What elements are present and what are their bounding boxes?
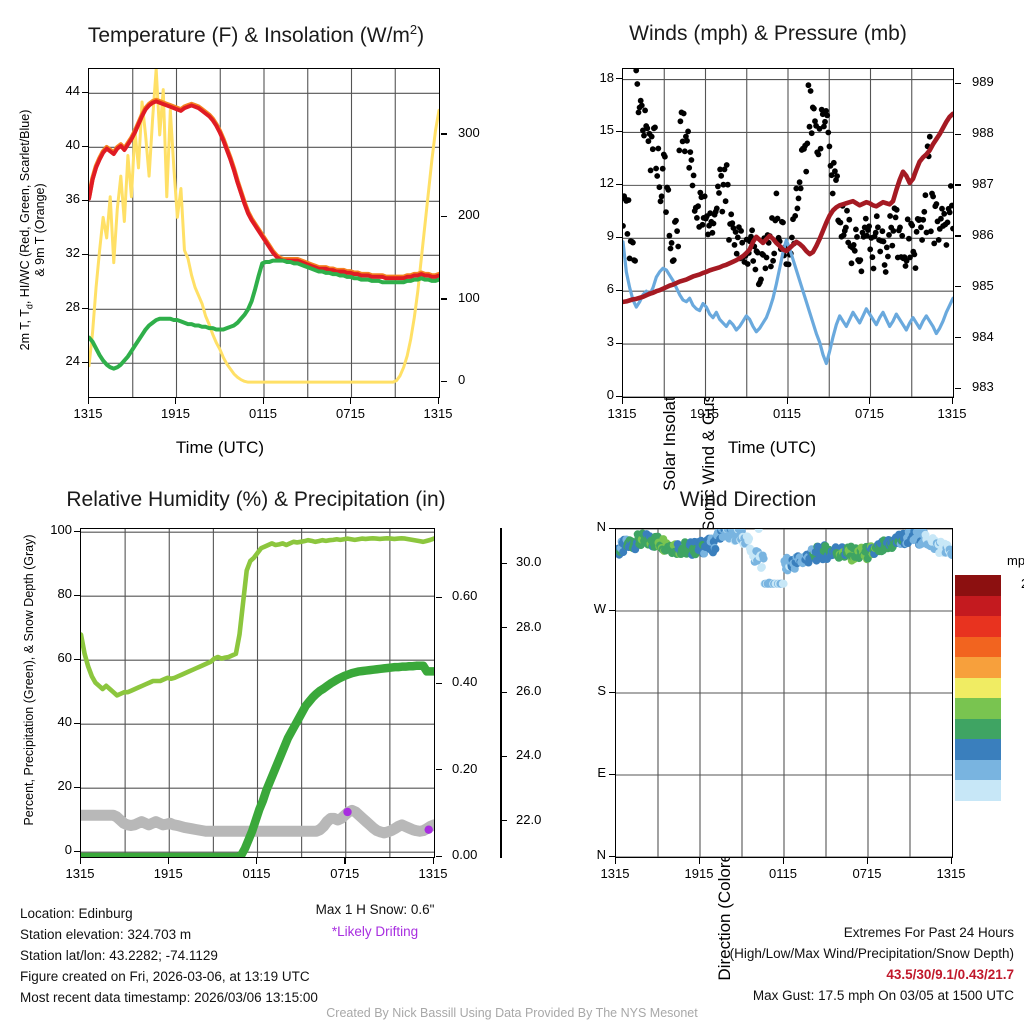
wind-speed-colorbar: mph20+181614121086420 (955, 575, 1001, 801)
xtick-label-time-chart2: 0715 (844, 406, 896, 421)
xtick-label-time-chart4: 1315 (925, 866, 977, 881)
colorbar-label: 0 (1007, 781, 1024, 796)
xtick-label-time-chart4: 1315 (589, 866, 641, 881)
ytick-label-temperature: 24 (48, 353, 80, 368)
colorbar-title: mph (1007, 553, 1024, 568)
ytick-label-insolation: 200 (458, 207, 480, 222)
ytick-label-temperature: 28 (48, 299, 80, 314)
footer-latlon: Station lat/lon: 43.2282; -74.1129 (20, 948, 218, 963)
chart-title-winds: Winds (mph) & Pressure (mb) (512, 22, 1024, 46)
ytick-label-precipitation: 0.40 (452, 674, 477, 689)
ytick-label-wind: 3 (582, 334, 614, 349)
chart-title-temperature: Temperature (F) & Insolation (W/m2) (0, 22, 512, 48)
ytick-label-pressure: 983 (972, 379, 994, 394)
ytick-label-humidity: 80 (40, 586, 72, 601)
ytick-temperature (82, 92, 88, 93)
ytick-humidity (74, 851, 80, 852)
ytick-label-humidity: 60 (40, 650, 72, 665)
xtick-chart3 (433, 858, 434, 864)
colorbar-swatches (955, 575, 1001, 801)
ytick-wind (616, 184, 622, 185)
xtick-chart1 (175, 398, 176, 404)
xtick-chart2 (869, 398, 870, 404)
ytick-temperature (82, 362, 88, 363)
ytick-label-wind: 6 (582, 281, 614, 296)
xtick-chart3 (344, 858, 345, 864)
ytick-pressure (955, 337, 961, 338)
ytick-label-pressure: 985 (972, 278, 994, 293)
xtick-label-time-chart1: 1915 (150, 406, 202, 421)
xtick-label-time-chart4: 1915 (673, 866, 725, 881)
xtick-chart2 (787, 398, 788, 404)
xtick-label-time-chart1: 1315 (412, 406, 464, 421)
xtick-label-time-chart1: 0715 (325, 406, 377, 421)
xtick-chart1 (438, 398, 439, 404)
xtick-label-time-chart3: 1915 (142, 866, 194, 881)
xtick-label-time-chart1: 1315 (62, 406, 114, 421)
ytick-label-pressure: 984 (972, 329, 994, 344)
ytick-label-pressure: 986 (972, 227, 994, 242)
xtick-chart4 (951, 858, 952, 864)
colorbar-label: 8 (1007, 699, 1024, 714)
ytick-label-humidity: 40 (40, 714, 72, 729)
ytick-label-temperature: 40 (48, 137, 80, 152)
xtick-chart4 (615, 858, 616, 864)
xtick-label-time-chart3: 0115 (231, 866, 283, 881)
xtick-label-time-chart1: 0115 (237, 406, 289, 421)
ytick-label-direction: W (578, 601, 606, 616)
ytick-direction (609, 692, 615, 693)
chart-winds-pressure: Winds (mph) & Pressure (mb) Sonic Wind &… (512, 0, 1024, 470)
axis-label-time-chart2: Time (UTC) (572, 438, 972, 458)
footer-drifting-note: *Likely Drifting (230, 924, 520, 939)
ytick-label-insolation: 0 (458, 372, 465, 387)
ytick-snow-depth (501, 627, 507, 628)
ytick-label-humidity: 0 (40, 842, 72, 857)
ytick-insolation (441, 216, 447, 217)
ytick-humidity (74, 659, 80, 660)
chart-title-temperature-text: Temperature (F) & Insolation (W/m (88, 24, 410, 47)
ytick-temperature (82, 146, 88, 147)
colorbar-label: 10 (1007, 679, 1024, 694)
chart-title-humidity: Relative Humidity (%) & Precipitation (i… (0, 488, 512, 512)
ytick-snow-depth (501, 563, 507, 564)
footer-created: Figure created on Fri, 2026-03-06, at 13… (20, 969, 310, 984)
colorbar-swatch (955, 596, 1001, 617)
ytick-label-direction: N (578, 847, 606, 862)
xtick-chart4 (783, 858, 784, 864)
ytick-label-wind: 12 (582, 175, 614, 190)
plot-area-wind-direction (615, 528, 953, 858)
ytick-direction (609, 528, 615, 529)
axis-label-temp-part1: 2m T, T (18, 309, 32, 350)
ytick-pressure (955, 83, 961, 84)
colorbar-swatch (955, 719, 1001, 740)
colorbar-swatch (955, 760, 1001, 781)
xtick-label-time-chart3: 1315 (407, 866, 459, 881)
xtick-label-time-chart3: 1315 (54, 866, 106, 881)
xtick-label-time-chart2: 1915 (679, 406, 731, 421)
colorbar-swatch (955, 616, 1001, 637)
ytick-insolation (441, 298, 447, 299)
xtick-chart4 (867, 858, 868, 864)
ytick-insolation (441, 381, 447, 382)
xtick-label-time-chart3: 0715 (319, 866, 371, 881)
ytick-temperature (82, 308, 88, 309)
ytick-precipitation (436, 683, 442, 684)
colorbar-label: 14 (1007, 638, 1024, 653)
footer-extremes-subtitle: (High/Low/Max Wind/Precipitation/Snow De… (584, 946, 1014, 961)
ytick-label-wind: 15 (582, 122, 614, 137)
plot-area-humidity (80, 528, 435, 858)
ytick-label-wind: 0 (582, 387, 614, 402)
ytick-direction (609, 610, 615, 611)
colorbar-label: 12 (1007, 658, 1024, 673)
ytick-direction (609, 774, 615, 775)
xtick-chart1 (263, 398, 264, 404)
ytick-label-temperature: 44 (48, 83, 80, 98)
axis-label-time-chart1: Time (UTC) (0, 438, 440, 458)
xtick-label-time-chart2: 1315 (926, 406, 978, 421)
axis-label-humidity-left: Percent, Precipitation (Green), & Snow D… (22, 505, 36, 855)
ytick-label-insolation: 100 (458, 290, 480, 305)
colorbar-label: 4 (1007, 740, 1024, 755)
ytick-label-precipitation: 0.20 (452, 761, 477, 776)
ytick-temperature (82, 254, 88, 255)
footer-max-gust: Max Gust: 17.5 mph On 03/05 at 1500 UTC (584, 988, 1014, 1003)
xtick-label-time-chart2: 0115 (761, 406, 813, 421)
xtick-chart3 (168, 858, 169, 864)
ytick-humidity (74, 531, 80, 532)
ytick-label-insolation: 300 (458, 125, 480, 140)
colorbar-swatch (955, 637, 1001, 658)
footer-location: Location: Edinburg (20, 906, 133, 921)
xtick-label-time-chart2: 1315 (596, 406, 648, 421)
footer-timestamp: Most recent data timestamp: 2026/03/06 1… (20, 990, 318, 1005)
xtick-chart2 (952, 398, 953, 404)
footer-elevation: Station elevation: 324.703 m (20, 927, 191, 942)
ytick-humidity (74, 787, 80, 788)
figure-credit: Created By Nick Bassill Using Data Provi… (0, 1006, 1024, 1020)
ytick-snow-depth (501, 756, 507, 757)
ytick-snow-depth (501, 692, 507, 693)
ytick-wind (616, 78, 622, 79)
xtick-label-time-chart4: 0715 (841, 866, 893, 881)
ytick-label-humidity: 100 (40, 522, 72, 537)
ytick-wind (616, 396, 622, 397)
ytick-snow-depth (501, 820, 507, 821)
ytick-label-wind: 18 (582, 70, 614, 85)
ytick-label-temperature: 32 (48, 245, 80, 260)
ytick-label-pressure: 987 (972, 176, 994, 191)
colorbar-swatch (955, 739, 1001, 760)
axis-label-temperature-left-line2: & 9m T (Orange) (33, 85, 47, 375)
chart-wind-direction: Wind Direction Direction (Colored By Spe… (512, 470, 1024, 910)
xtick-chart3 (80, 858, 81, 864)
chart-temperature-insolation: Temperature (F) & Insolation (W/m2) 2m T… (0, 0, 512, 470)
ytick-label-direction: N (578, 519, 606, 534)
ytick-label-wind: 9 (582, 228, 614, 243)
ytick-pressure (955, 286, 961, 287)
xtick-chart1 (88, 398, 89, 404)
footer-extremes-values: 43.5/30/9.1/0.43/21.7 (584, 967, 1014, 982)
chart-humidity-precipitation: Relative Humidity (%) & Precipitation (i… (0, 470, 512, 910)
ytick-temperature (82, 200, 88, 201)
xtick-chart3 (256, 858, 257, 864)
plot-area-temperature (88, 68, 440, 398)
ytick-wind (616, 131, 622, 132)
snow-depth-axis-spine (500, 528, 502, 858)
chart-title-wind-direction: Wind Direction (492, 488, 1004, 512)
xtick-chart4 (699, 858, 700, 864)
ytick-label-precipitation: 0.00 (452, 847, 477, 862)
ytick-humidity (74, 723, 80, 724)
ytick-wind (616, 343, 622, 344)
colorbar-label: 16 (1007, 617, 1024, 632)
xtick-chart2 (622, 398, 623, 404)
ytick-direction (609, 856, 615, 857)
ytick-label-precipitation: 0.60 (452, 588, 477, 603)
plot-area-winds (622, 68, 954, 398)
colorbar-swatch (955, 657, 1001, 678)
colorbar-label: 6 (1007, 720, 1024, 735)
colorbar-swatch (955, 575, 1001, 596)
ytick-insolation (441, 133, 447, 134)
footer-extremes-title: Extremes For Past 24 Hours (584, 925, 1014, 940)
ytick-wind (616, 290, 622, 291)
xtick-chart1 (350, 398, 351, 404)
ytick-precipitation (436, 856, 442, 857)
ytick-label-direction: S (578, 683, 606, 698)
colorbar-label: 2 (1007, 761, 1024, 776)
ytick-label-direction: E (578, 765, 606, 780)
chart-title-temperature-tail: ) (417, 24, 424, 47)
ytick-humidity (74, 595, 80, 596)
ytick-pressure (955, 235, 961, 236)
colorbar-label: 20+ (1007, 576, 1024, 591)
ytick-precipitation (436, 769, 442, 770)
ytick-label-pressure: 988 (972, 125, 994, 140)
ytick-pressure (955, 134, 961, 135)
ytick-label-pressure: 989 (972, 74, 994, 89)
xtick-label-time-chart4: 0115 (757, 866, 809, 881)
colorbar-label: 18 (1007, 597, 1024, 612)
ytick-pressure (955, 388, 961, 389)
colorbar-swatch (955, 780, 1001, 801)
colorbar-swatch (955, 678, 1001, 699)
ytick-precipitation (436, 597, 442, 598)
ytick-wind (616, 237, 622, 238)
footer-max-snow: Max 1 H Snow: 0.6" (230, 902, 520, 917)
axis-label-temp-part2: , HI/WC (Red, Green, Scarlet/Blue) (18, 110, 32, 305)
ytick-label-humidity: 20 (40, 778, 72, 793)
colorbar-swatch (955, 698, 1001, 719)
ytick-pressure (955, 184, 961, 185)
xtick-chart2 (704, 398, 705, 404)
ytick-label-temperature: 36 (48, 191, 80, 206)
